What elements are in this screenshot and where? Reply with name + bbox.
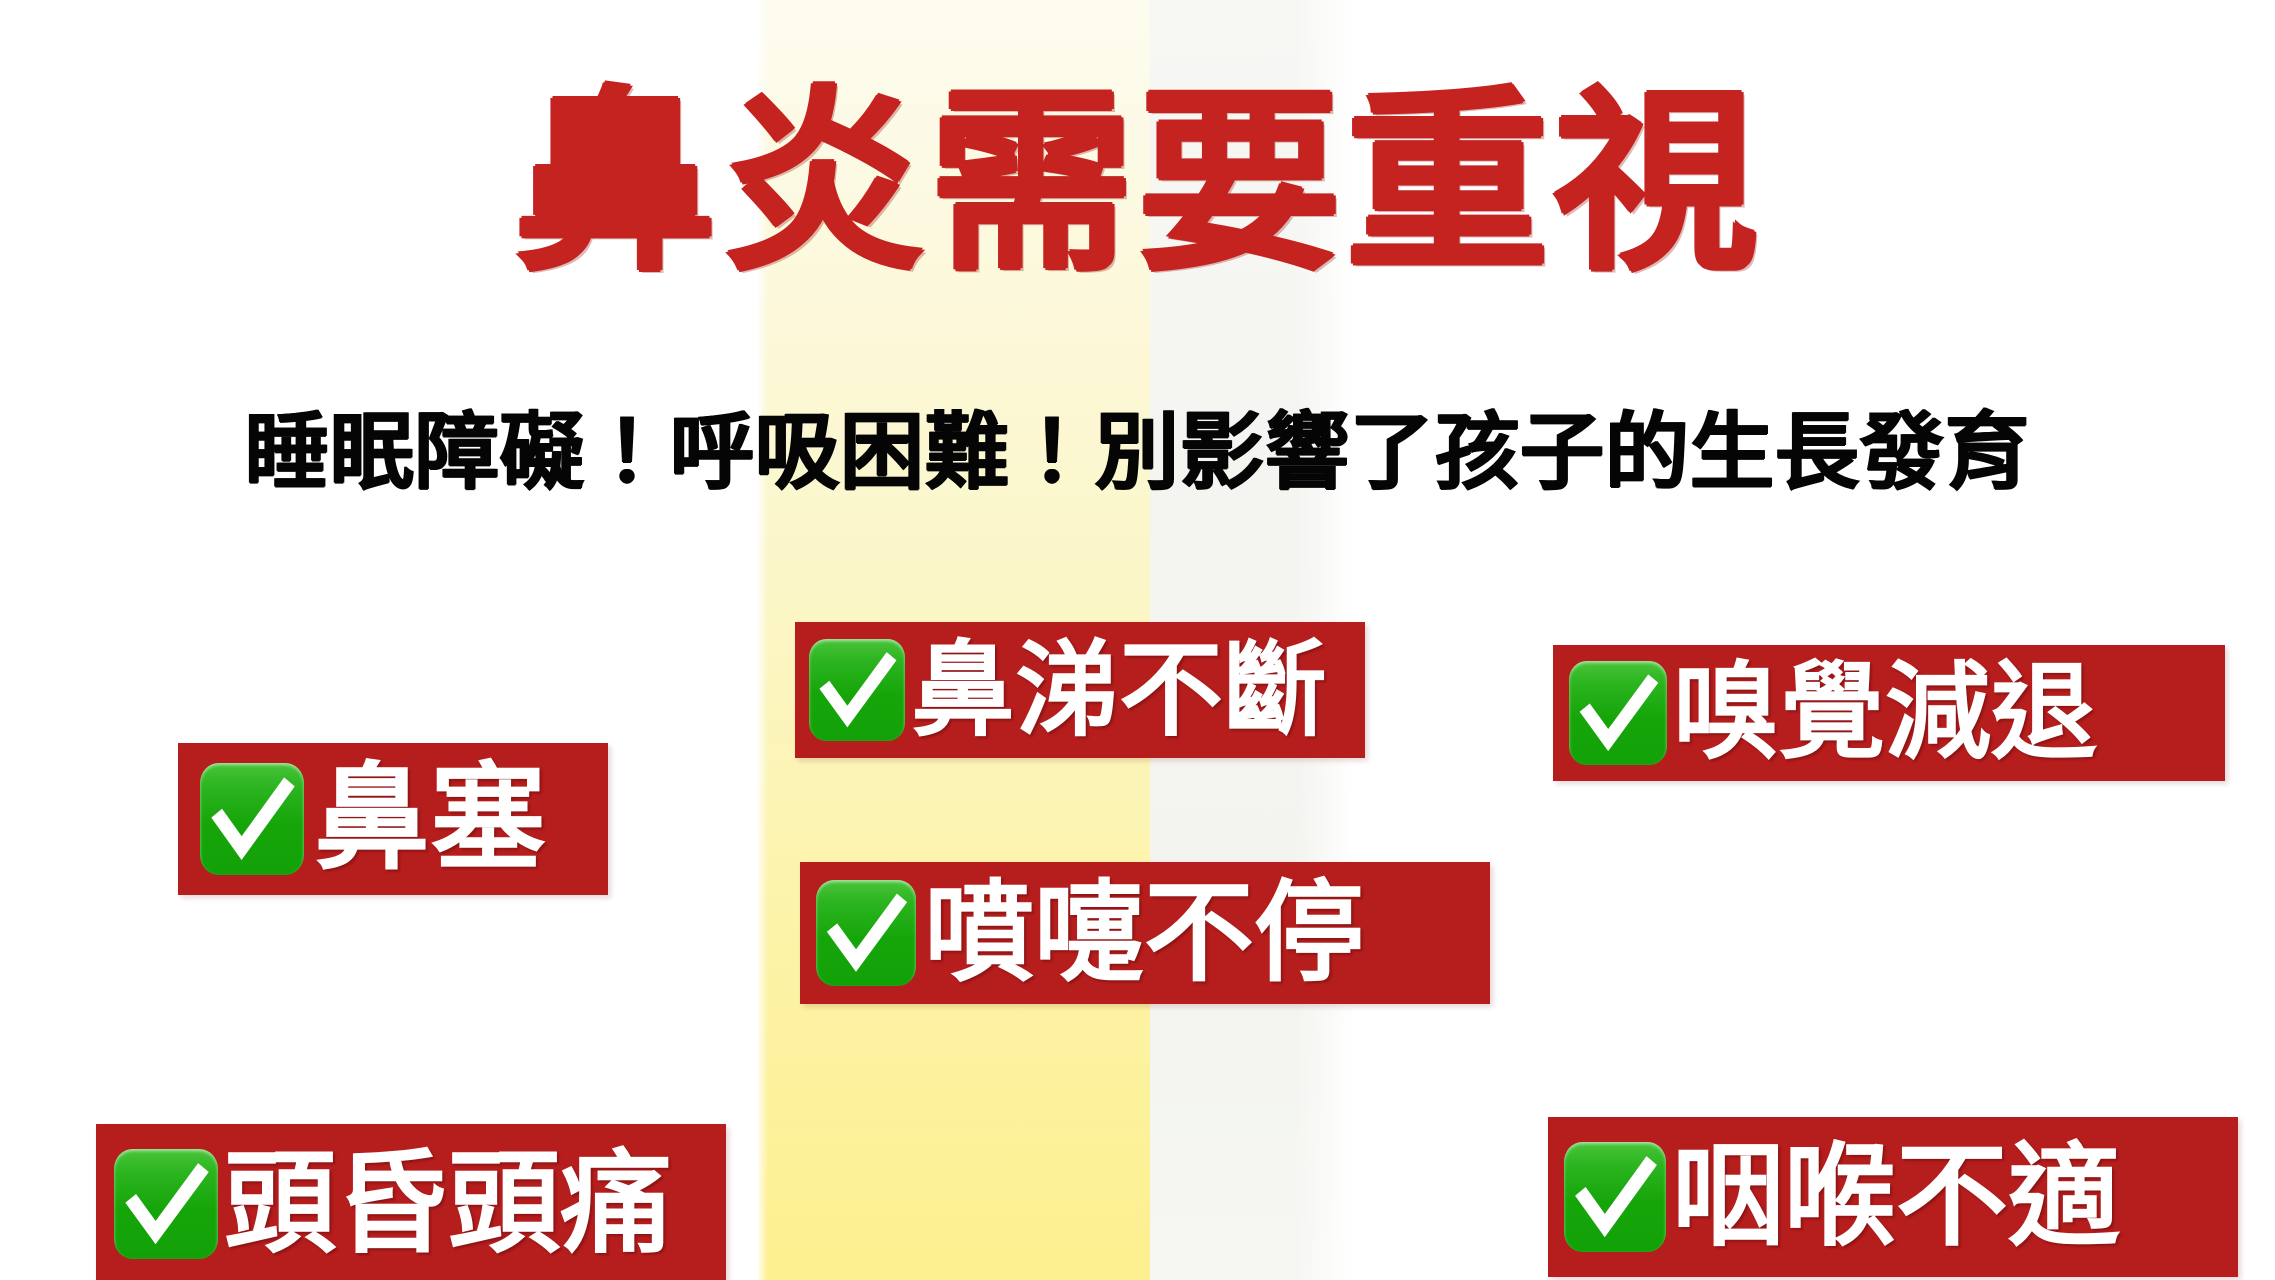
symptom-badge-throat-discomfort: 咽喉不適 bbox=[1548, 1117, 2238, 1277]
page-title: 鼻炎需要重視 bbox=[0, 86, 2275, 282]
symptom-badge-smell-loss: 嗅覺減退 bbox=[1553, 645, 2225, 781]
symptom-label: 鼻塞 bbox=[314, 761, 546, 877]
symptom-badge-runny-nose: 鼻涕不斷 bbox=[795, 622, 1365, 758]
symptom-label: 噴嚏不停 bbox=[924, 878, 1364, 988]
symptom-badge-nasal-congestion: 鼻塞 bbox=[178, 743, 608, 895]
rhinitis-awareness-poster: 鼻炎需要重視 睡眠障礙！呼吸困難！別影響了孩子的生長發育 鼻塞 鼻涕不斷 噴嚏不… bbox=[0, 0, 2275, 1280]
symptom-label: 鼻涕不斷 bbox=[911, 638, 1327, 742]
check-mark-button-icon bbox=[1564, 1142, 1666, 1252]
check-mark-button-icon bbox=[809, 639, 905, 741]
check-mark-button-icon bbox=[1569, 661, 1667, 765]
symptom-badge-headache: 頭昏頭痛 bbox=[96, 1124, 726, 1280]
symptom-badge-sneezing: 噴嚏不停 bbox=[800, 862, 1490, 1004]
check-mark-button-icon bbox=[200, 763, 304, 875]
symptom-label: 嗅覺減退 bbox=[1673, 660, 2097, 766]
symptom-label: 咽喉不適 bbox=[1672, 1141, 2120, 1253]
symptom-label: 頭昏頭痛 bbox=[224, 1148, 672, 1260]
check-mark-button-icon bbox=[114, 1149, 218, 1259]
page-subtitle: 睡眠障礙！呼吸困難！別影響了孩子的生長發育 bbox=[0, 410, 2275, 494]
check-mark-button-icon bbox=[816, 880, 916, 986]
